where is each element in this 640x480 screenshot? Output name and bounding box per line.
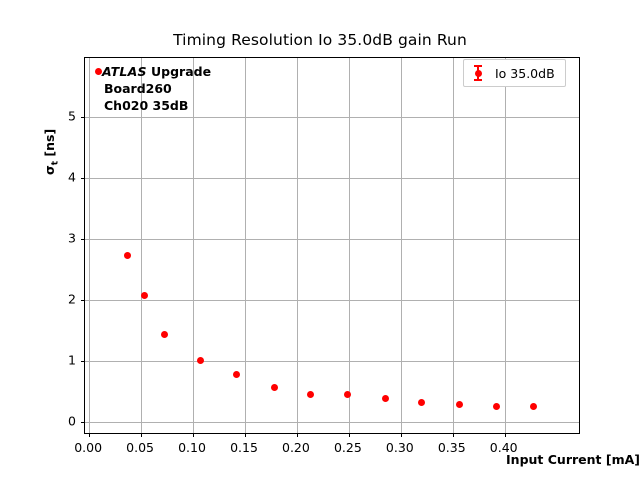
- y-tick-mark: [81, 422, 85, 423]
- gridline-vertical: [193, 58, 194, 433]
- x-tick-label: 0.30: [386, 440, 414, 455]
- x-tick-label: 0.00: [74, 440, 102, 455]
- x-tick-mark: [193, 433, 194, 437]
- grid-layer: [85, 58, 579, 433]
- x-tick-mark: [401, 433, 402, 437]
- x-tick-label: 0.25: [334, 440, 362, 455]
- y-axis-label-sigma: σ: [42, 165, 57, 175]
- x-tick-label: 0.15: [230, 440, 258, 455]
- gridline-vertical: [505, 58, 506, 433]
- x-tick-mark: [349, 433, 350, 437]
- gridline-vertical: [401, 58, 402, 433]
- data-point: [233, 371, 240, 378]
- upgrade-label: Upgrade: [147, 64, 211, 79]
- y-axis-label-subscript: t: [51, 161, 61, 165]
- legend-entry-label: Io 35.0dB: [495, 66, 555, 81]
- y-tick-mark: [81, 239, 85, 240]
- data-series-io-35db: [85, 58, 579, 433]
- gridline-vertical: [141, 58, 142, 433]
- board-label: Board260: [104, 80, 211, 97]
- y-tick-label: 5: [48, 108, 76, 123]
- chart-title: Timing Resolution Io 35.0dB gain Run: [0, 31, 640, 49]
- channel-label: Ch020 35dB: [104, 97, 211, 114]
- gridline-vertical: [89, 58, 90, 433]
- data-point: [197, 357, 204, 364]
- data-point: [141, 292, 148, 299]
- atlas-annotation: ATLAS Upgrade Board260 Ch020 35dB: [95, 63, 211, 114]
- chart-figure: Timing Resolution Io 35.0dB gain Run 0.0…: [0, 0, 640, 480]
- x-tick-label: 0.35: [438, 440, 466, 455]
- y-tick-mark: [81, 117, 85, 118]
- x-tick-mark: [245, 433, 246, 437]
- gridline-vertical: [297, 58, 298, 433]
- x-tick-mark: [141, 433, 142, 437]
- data-point: [344, 391, 351, 398]
- gridline-vertical: [453, 58, 454, 433]
- data-point: [456, 401, 463, 408]
- gridline-horizontal: [85, 117, 579, 118]
- atlas-dot-icon: [95, 68, 102, 75]
- y-tick-label: 3: [48, 230, 76, 245]
- x-tick-label: 0.10: [178, 440, 206, 455]
- data-point: [418, 399, 425, 406]
- tick-layer: [85, 58, 579, 433]
- data-point: [493, 403, 500, 410]
- y-tick-mark: [81, 178, 85, 179]
- x-tick-label: 0.05: [126, 440, 154, 455]
- gridline-vertical: [349, 58, 350, 433]
- data-point: [124, 252, 131, 259]
- y-tick-label: 0: [48, 414, 76, 429]
- x-tick-mark: [505, 433, 506, 437]
- y-tick-label: 1: [48, 352, 76, 367]
- gridline-horizontal: [85, 300, 579, 301]
- x-axis-label: Input Current [mA]: [506, 452, 640, 467]
- gridline-horizontal: [85, 178, 579, 179]
- x-tick-mark: [89, 433, 90, 437]
- legend-marker-icon: [472, 65, 484, 81]
- gridline-vertical: [245, 58, 246, 433]
- data-point: [530, 403, 537, 410]
- data-point: [307, 391, 314, 398]
- x-tick-mark: [297, 433, 298, 437]
- y-tick-label: 2: [48, 291, 76, 306]
- atlas-label: ATLAS: [102, 64, 147, 79]
- y-tick-mark: [81, 361, 85, 362]
- x-tick-mark: [453, 433, 454, 437]
- data-point: [161, 331, 168, 338]
- data-point: [382, 395, 389, 402]
- gridline-horizontal: [85, 422, 579, 423]
- y-axis-label: σt [ns]: [26, 57, 44, 177]
- chart-legend[interactable]: Io 35.0dB: [463, 59, 566, 87]
- gridline-horizontal: [85, 239, 579, 240]
- data-point: [271, 384, 278, 391]
- gridline-horizontal: [85, 361, 579, 362]
- y-tick-mark: [81, 300, 85, 301]
- y-axis-label-unit: [ns]: [42, 129, 57, 161]
- x-tick-label: 0.20: [282, 440, 310, 455]
